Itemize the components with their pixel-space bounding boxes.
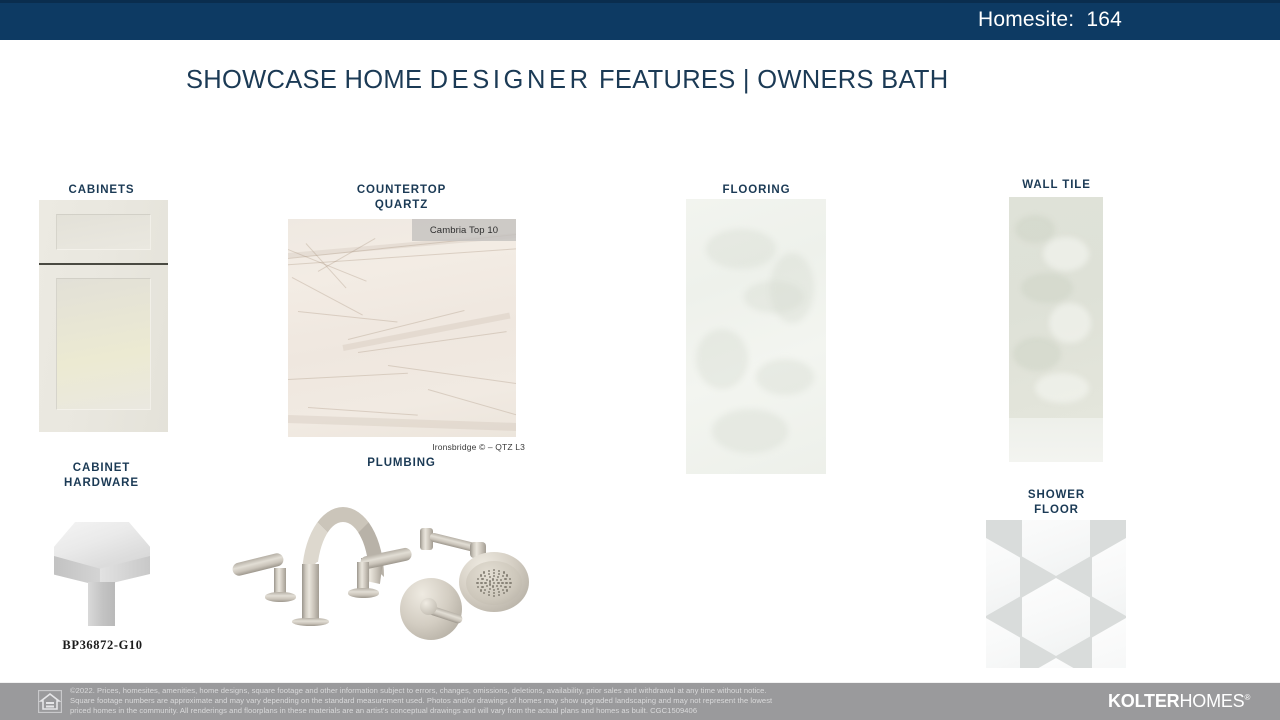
spray-hole bbox=[509, 582, 511, 584]
spray-hole bbox=[480, 574, 482, 576]
top-bar: Homesite: 164 bbox=[0, 0, 1280, 40]
spray-hole bbox=[488, 573, 490, 575]
spray-hole bbox=[509, 578, 511, 580]
faucet-left-base bbox=[265, 592, 296, 602]
spray-hole bbox=[484, 582, 486, 584]
spray-hole bbox=[493, 569, 495, 571]
shower-valve-hub bbox=[420, 598, 437, 615]
spray-hole bbox=[480, 582, 482, 584]
faucet-right-stem bbox=[357, 562, 369, 590]
spray-hole bbox=[493, 595, 495, 597]
spray-hole bbox=[483, 571, 485, 573]
hex-tile bbox=[1022, 578, 1090, 656]
section-label-cabinet-hardware: CABINET HARDWARE bbox=[35, 461, 168, 491]
spray-hole bbox=[488, 570, 490, 572]
knob-stem bbox=[88, 582, 115, 626]
page-title-part2: DESIGNER bbox=[430, 66, 592, 94]
hex-tile bbox=[1022, 520, 1090, 576]
spray-hole bbox=[506, 589, 508, 591]
cambria-top-10-badge: Cambria Top 10 bbox=[412, 219, 516, 241]
flooring-swatch bbox=[686, 199, 826, 474]
spray-hole bbox=[492, 578, 494, 580]
section-label-plumbing: PLUMBING bbox=[335, 456, 468, 471]
equal-housing-opportunity-icon bbox=[38, 690, 62, 713]
kolter-homes-logo: KOLTERHOMES® bbox=[1108, 691, 1250, 712]
spray-hole bbox=[481, 578, 483, 580]
spray-hole bbox=[501, 582, 503, 584]
spray-hole bbox=[497, 576, 499, 578]
page-title: SHOWCASE HOME DESIGNER FEATURES | OWNERS… bbox=[186, 66, 949, 95]
spray-hole bbox=[503, 571, 505, 573]
spray-hole bbox=[498, 591, 500, 593]
footer-disclaimer-line-2: Square footage numbers are approximate a… bbox=[70, 696, 1080, 706]
faucet-spout-stem bbox=[302, 564, 319, 622]
spray-hole bbox=[496, 585, 498, 587]
footer-disclaimer-line-1: ©2022. Prices, homesites, amenities, hom… bbox=[70, 686, 1080, 696]
spray-hole bbox=[489, 580, 491, 582]
footer-disclaimer-line-3: priced homes in the community. All rende… bbox=[70, 706, 1080, 716]
cabinet-drawer-front bbox=[39, 200, 168, 263]
spray-hole bbox=[480, 589, 482, 591]
spray-hole bbox=[476, 582, 478, 584]
shower-head-spray-holes bbox=[470, 565, 518, 601]
spray-hole bbox=[502, 589, 504, 591]
section-label-cabinets: CABINETS bbox=[35, 183, 168, 198]
cabinet-hardware-part-number: BP36872-G10 bbox=[20, 638, 185, 653]
spray-hole bbox=[500, 579, 502, 581]
spray-hole bbox=[486, 585, 488, 587]
wall-tile-swatch bbox=[1009, 197, 1103, 462]
spray-hole bbox=[497, 582, 499, 584]
footer-disclaimer: ©2022. Prices, homesites, amenities, hom… bbox=[70, 686, 1080, 715]
spray-hole bbox=[509, 586, 511, 588]
spray-hole bbox=[489, 576, 491, 578]
spray-hole bbox=[498, 594, 500, 596]
spray-hole bbox=[489, 588, 491, 590]
spray-hole bbox=[486, 579, 488, 581]
logo-text-regular: HOMES bbox=[1179, 691, 1244, 711]
spray-hole bbox=[493, 592, 495, 594]
spray-hole bbox=[506, 574, 508, 576]
spray-hole bbox=[502, 575, 504, 577]
faucet-spout-base bbox=[292, 618, 329, 626]
shower-valve-trim bbox=[400, 578, 470, 640]
section-label-flooring: FLOORING bbox=[690, 183, 823, 198]
spray-hole bbox=[503, 592, 505, 594]
spray-hole bbox=[504, 586, 506, 588]
cabinet-door-front bbox=[39, 265, 168, 432]
page-title-part1: SHOWCASE HOME bbox=[186, 66, 430, 94]
spray-hole bbox=[488, 591, 490, 593]
section-label-shower-floor: SHOWER FLOOR bbox=[990, 488, 1123, 518]
spray-hole bbox=[504, 578, 506, 580]
spray-hole bbox=[483, 592, 485, 594]
footer-divider bbox=[0, 682, 1280, 683]
section-label-countertop: COUNTERTOP QUARTZ bbox=[335, 183, 468, 213]
quartz-caption: Ironsbridge © – QTZ L3 bbox=[395, 442, 525, 452]
spray-hole bbox=[500, 585, 502, 587]
hex-tile bbox=[986, 618, 1020, 668]
spray-hole bbox=[498, 573, 500, 575]
spray-hole bbox=[493, 572, 495, 574]
top-bar-accent bbox=[0, 0, 1280, 3]
spray-hole bbox=[493, 589, 495, 591]
section-label-wall-tile: WALL TILE bbox=[990, 178, 1123, 193]
hex-tile bbox=[1092, 618, 1126, 668]
page-title-part3: FEATURES | OWNERS BATH bbox=[592, 66, 949, 94]
shower-arm bbox=[429, 532, 476, 552]
spray-hole bbox=[505, 582, 507, 584]
logo-registered-mark: ® bbox=[1244, 693, 1250, 702]
spray-hole bbox=[493, 582, 495, 584]
spray-hole bbox=[497, 588, 499, 590]
shower-floor-swatch bbox=[986, 520, 1126, 668]
spray-hole bbox=[484, 589, 486, 591]
wall-tile-light-band bbox=[1009, 418, 1103, 462]
faucet-right-base bbox=[348, 588, 379, 598]
quartz-swatch: Cambria Top 10 bbox=[288, 219, 516, 437]
spray-hole bbox=[492, 585, 494, 587]
cabinet-door-panel bbox=[56, 278, 151, 410]
logo-text-bold: KOLTER bbox=[1108, 691, 1179, 711]
hex-tile bbox=[986, 538, 1020, 616]
plumbing-fixtures-swatch bbox=[244, 492, 544, 642]
hex-tile bbox=[1022, 658, 1090, 668]
spray-hole bbox=[481, 586, 483, 588]
cabinet-drawer-panel bbox=[56, 214, 151, 250]
spray-hole bbox=[498, 570, 500, 572]
homesite-label: Homesite: 164 bbox=[978, 8, 1122, 32]
spray-hole bbox=[488, 594, 490, 596]
cabinet-knob-swatch bbox=[50, 512, 154, 628]
spray-hole bbox=[489, 583, 491, 585]
hex-tile bbox=[1092, 538, 1126, 616]
spray-hole bbox=[493, 575, 495, 577]
spray-hole bbox=[484, 575, 486, 577]
spray-hole bbox=[477, 586, 479, 588]
spray-hole bbox=[477, 578, 479, 580]
cabinet-door-swatch bbox=[39, 200, 168, 432]
